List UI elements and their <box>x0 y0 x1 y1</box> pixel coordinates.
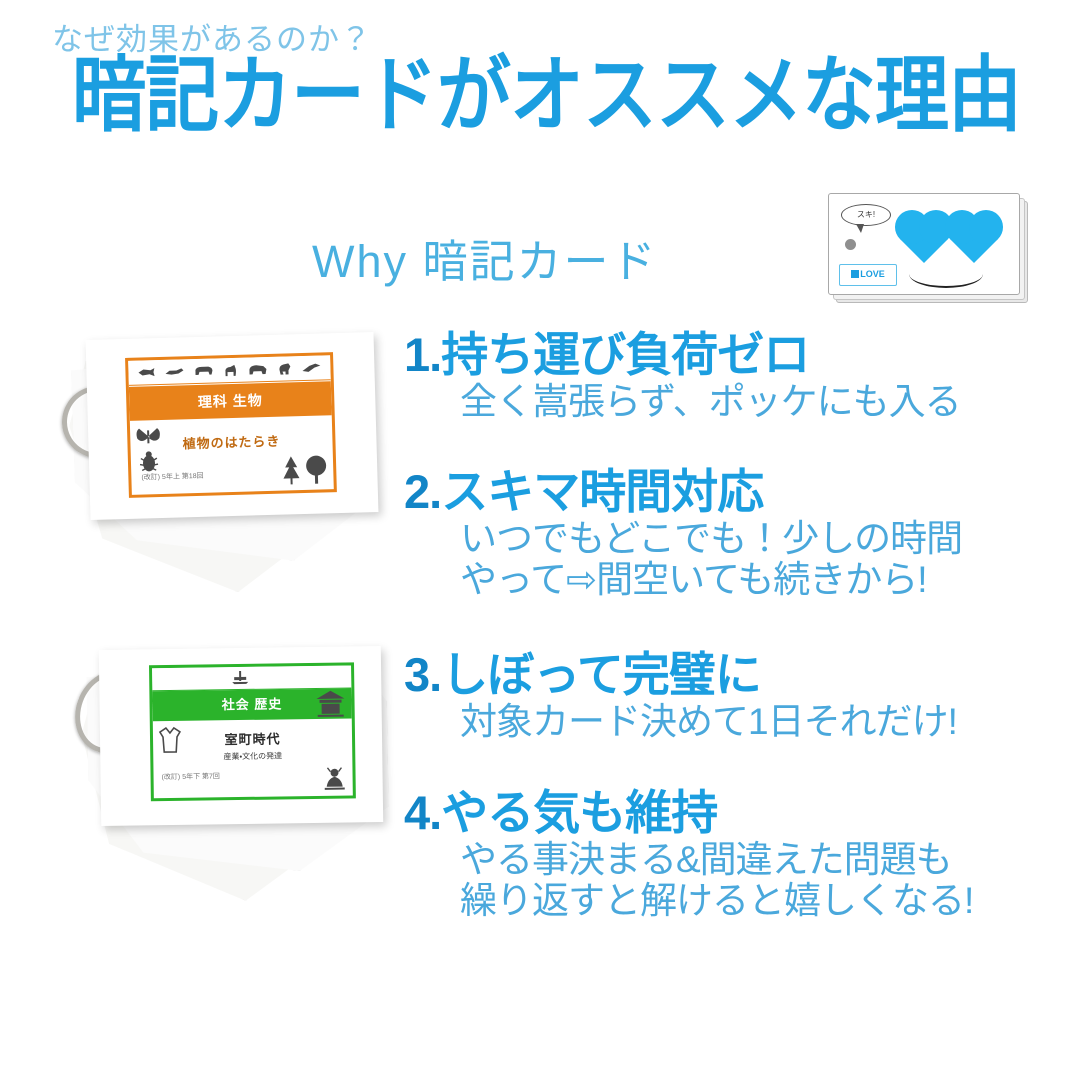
benefit-1-heading-text: 持ち運び負荷ゼロ <box>441 328 809 381</box>
infographic-page: なぜ効果があるのか？ 暗記カードがオススメな理由 Why 暗記カード スキ! L… <box>0 0 1078 1080</box>
bear-silhouette <box>193 365 213 378</box>
broadleaf-tree-icon <box>305 454 328 485</box>
science-card-footer: (改訂) 5年上 第18回 <box>141 471 203 483</box>
social-card-footer: (改訂) 5年下 第7回 <box>161 771 219 782</box>
deer-silhouette <box>222 363 238 376</box>
love-badge: LOVE <box>839 264 897 286</box>
bird-silhouette <box>302 362 322 373</box>
page-title: 暗記カードがオススメな理由 <box>72 52 1021 139</box>
social-card-inner: 社会 歴史 室町時代 産業・文化の発達 (改訂) 5年下 第7回 <box>149 662 356 801</box>
card-front: スキ! LOVE <box>828 193 1020 295</box>
love-badge-label: LOVE <box>860 269 885 279</box>
pine-tree-icon <box>281 455 302 486</box>
benefit-3-heading: 3.しぼって完璧に <box>404 650 957 701</box>
benefit-2-sub-line-2: やって⇨間空いても続きから! <box>460 559 962 600</box>
social-card-top-strip <box>152 665 351 691</box>
benefit-2-sub-line-1: いつでもどこでも！少しの時間 <box>460 518 962 559</box>
buddha-icon <box>322 766 346 792</box>
benefit-2-number: 2. <box>404 465 441 518</box>
benefit-item-3: 3.しぼって完璧に 対象カード決めて1日それだけ! <box>404 650 957 742</box>
benefit-1-heading: 1.持ち運び負荷ゼロ <box>404 330 961 381</box>
social-card-subtitle: 産業・文化の発達 <box>153 749 352 763</box>
benefit-4-sub-line-2: 繰り返すと解けると嬉しくなる! <box>460 880 973 921</box>
benefit-2-heading-text: スキマ時間対応 <box>441 465 763 518</box>
fish-silhouette <box>137 367 155 377</box>
speech-bubble: スキ! <box>841 204 891 226</box>
ape-silhouette <box>277 362 293 375</box>
science-card-photo: 理科 生物 植物のはたらき (改訂) 5年上 第18回 <box>62 326 412 616</box>
badge-square-icon <box>851 270 859 278</box>
punch-hole-icon <box>845 239 856 250</box>
social-card-front: 社会 歴史 室町時代 産業・文化の発達 (改訂) 5年下 第7回 <box>99 646 383 826</box>
boar-silhouette <box>247 363 267 376</box>
benefit-item-2: 2.スキマ時間対応 いつでもどこでも！少しの時間 やって⇨間空いても続きから! <box>404 467 962 601</box>
heart-icon <box>950 215 998 263</box>
ship-icon <box>230 670 250 685</box>
temple-icon <box>315 690 345 718</box>
reptile-silhouette <box>164 366 184 377</box>
benefit-4-number: 4. <box>404 786 441 839</box>
benefit-3-number: 3. <box>404 648 441 701</box>
benefit-2-heading: 2.スキマ時間対応 <box>404 467 962 518</box>
social-card-title: 室町時代 <box>153 727 352 749</box>
benefit-1-sub-line-1: 全く嵩張らず、ポッケにも入る <box>460 381 961 422</box>
social-card-photo: 社会 歴史 室町時代 産業・文化の発達 (改訂) 5年下 第7回 <box>72 636 412 926</box>
science-card-front: 理科 生物 植物のはたらき (改訂) 5年上 第18回 <box>86 332 379 520</box>
science-card-band: 理科 生物 <box>129 381 332 421</box>
benefit-4-heading: 4.やる気も維持 <box>404 788 973 839</box>
heart-icon <box>900 215 948 263</box>
smile-card-illustration: スキ! LOVE <box>828 193 1038 318</box>
benefit-item-4: 4.やる気も維持 やる事決まる&間違えた問題も 繰り返すと解けると嬉しくなる! <box>404 788 973 922</box>
benefit-4-sub-line-1: やる事決まる&間違えた問題も <box>460 839 973 880</box>
benefit-1-number: 1. <box>404 328 441 381</box>
benefit-4-heading-text: やる気も維持 <box>441 786 717 839</box>
benefit-item-1: 1.持ち運び負荷ゼロ 全く嵩張らず、ポッケにも入る <box>404 330 961 422</box>
benefit-3-sub-line-1: 対象カード決めて1日それだけ! <box>460 701 957 742</box>
science-card-inner: 理科 生物 植物のはたらき (改訂) 5年上 第18回 <box>125 352 337 498</box>
why-subheading: Why 暗記カード <box>312 225 658 290</box>
smile-icon <box>909 260 983 288</box>
benefit-3-heading-text: しぼって完璧に <box>441 648 761 701</box>
